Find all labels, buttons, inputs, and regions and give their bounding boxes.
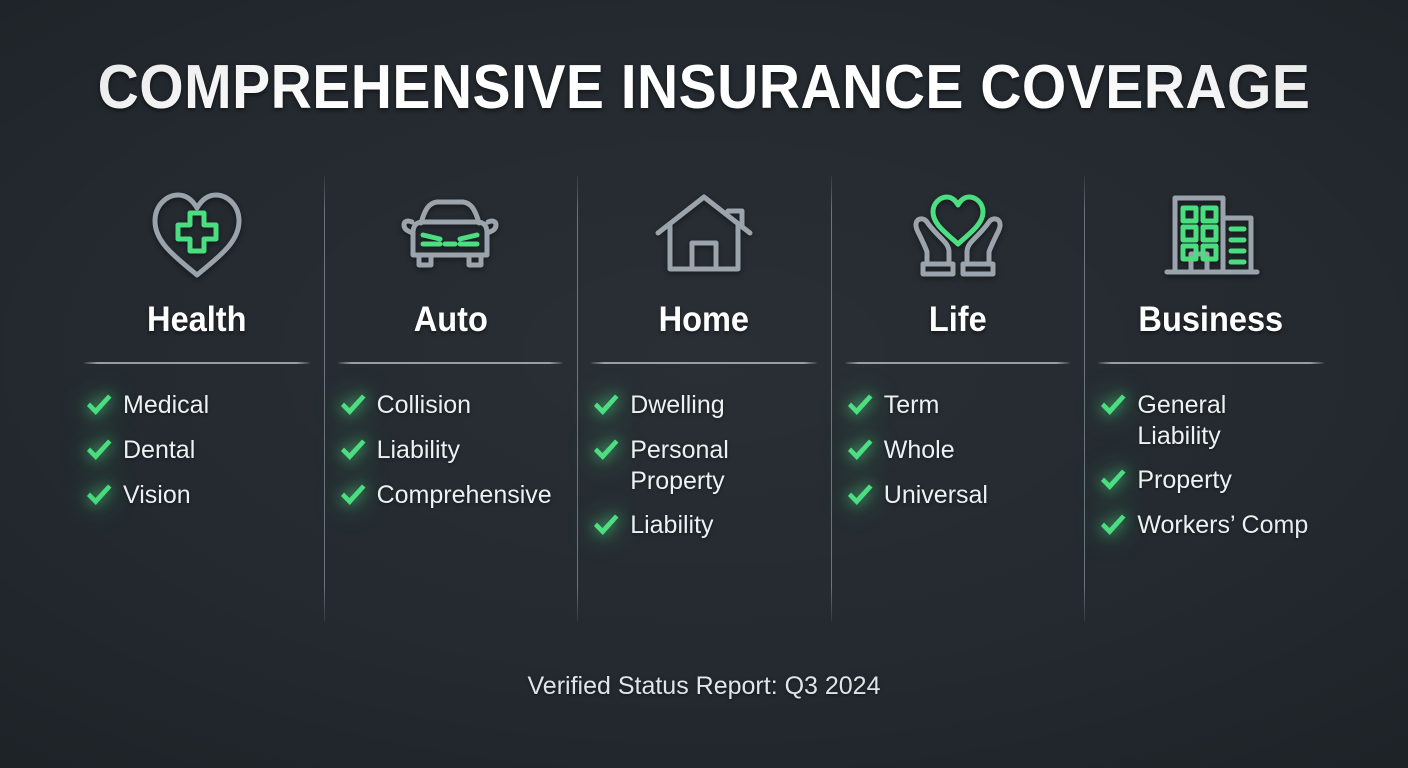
hands-holding-heart-icon bbox=[845, 176, 1071, 294]
list-item-label: Medical bbox=[123, 390, 209, 421]
coverage-list-auto: Collision Liability Comprehensive bbox=[338, 390, 564, 511]
list-item-label: Comprehensive bbox=[377, 480, 552, 511]
footer-status-text: Verified Status Report: Q3 2024 bbox=[0, 672, 1408, 701]
check-icon bbox=[84, 391, 114, 421]
heart-with-medical-cross-icon bbox=[84, 176, 310, 294]
column-title: Life bbox=[853, 300, 1063, 340]
list-item[interactable]: Vision bbox=[84, 480, 310, 511]
list-item[interactable]: Universal bbox=[845, 480, 1071, 511]
list-item-label: Workers’ Comp bbox=[1137, 510, 1308, 541]
check-icon bbox=[338, 391, 368, 421]
list-item[interactable]: Medical bbox=[84, 390, 310, 421]
list-item[interactable]: Dental bbox=[84, 435, 310, 466]
list-item[interactable]: Comprehensive bbox=[338, 480, 564, 511]
list-item[interactable]: General Liability bbox=[1098, 390, 1324, 451]
list-item-label: Collision bbox=[377, 390, 471, 421]
office-building-icon bbox=[1098, 176, 1324, 294]
column-divider-rule bbox=[338, 362, 564, 364]
column-title: Home bbox=[599, 300, 809, 340]
check-icon bbox=[591, 436, 621, 466]
column-divider-rule bbox=[845, 362, 1071, 364]
list-item-label: Liability bbox=[630, 510, 713, 541]
insurance-coverage-infographic: COMPREHENSIVE INSURANCE COVERAGE Health … bbox=[0, 0, 1408, 768]
coverage-list-health: Medical Dental Vision bbox=[84, 390, 310, 511]
list-item[interactable]: Collision bbox=[338, 390, 564, 421]
coverage-column-home[interactable]: Home Dwelling Personal Property bbox=[577, 176, 831, 622]
check-icon bbox=[1098, 391, 1128, 421]
car-front-icon bbox=[338, 176, 564, 294]
check-icon bbox=[591, 511, 621, 541]
column-title: Business bbox=[1106, 300, 1316, 340]
check-icon bbox=[591, 391, 621, 421]
page-title: COMPREHENSIVE INSURANCE COVERAGE bbox=[56, 52, 1351, 123]
list-item-label: General Liability bbox=[1137, 390, 1312, 451]
column-divider-rule bbox=[1098, 362, 1324, 364]
coverage-column-health[interactable]: Health Medical Dental bbox=[70, 176, 324, 622]
list-item[interactable]: Liability bbox=[338, 435, 564, 466]
list-item-label: Property bbox=[1137, 465, 1231, 496]
list-item-label: Whole bbox=[884, 435, 955, 466]
list-item[interactable]: Whole bbox=[845, 435, 1071, 466]
check-icon bbox=[845, 436, 875, 466]
coverage-list-life: Term Whole Universal bbox=[845, 390, 1071, 511]
coverage-column-life[interactable]: Life Term Whole bbox=[831, 176, 1085, 622]
list-item-label: Universal bbox=[884, 480, 988, 511]
check-icon bbox=[338, 436, 368, 466]
list-item-label: Vision bbox=[123, 480, 191, 511]
column-title: Auto bbox=[345, 300, 555, 340]
list-item[interactable]: Term bbox=[845, 390, 1071, 421]
check-icon bbox=[84, 481, 114, 511]
list-item[interactable]: Property bbox=[1098, 465, 1324, 496]
check-icon bbox=[338, 481, 368, 511]
list-item-label: Personal Property bbox=[630, 435, 805, 496]
list-item-label: Dwelling bbox=[630, 390, 724, 421]
coverage-column-business[interactable]: Business General Liability Property bbox=[1084, 176, 1338, 622]
list-item-label: Term bbox=[884, 390, 940, 421]
list-item[interactable]: Workers’ Comp bbox=[1098, 510, 1324, 541]
list-item[interactable]: Dwelling bbox=[591, 390, 817, 421]
coverage-columns: Health Medical Dental bbox=[70, 176, 1338, 622]
check-icon bbox=[845, 391, 875, 421]
house-icon bbox=[591, 176, 817, 294]
list-item[interactable]: Personal Property bbox=[591, 435, 817, 496]
column-title: Health bbox=[92, 300, 302, 340]
coverage-list-home: Dwelling Personal Property Liability bbox=[591, 390, 817, 541]
list-item[interactable]: Liability bbox=[591, 510, 817, 541]
list-item-label: Dental bbox=[123, 435, 195, 466]
coverage-column-auto[interactable]: Auto Collision Liability bbox=[324, 176, 578, 622]
check-icon bbox=[845, 481, 875, 511]
check-icon bbox=[1098, 466, 1128, 496]
check-icon bbox=[1098, 511, 1128, 541]
column-divider-rule bbox=[84, 362, 310, 364]
check-icon bbox=[84, 436, 114, 466]
column-divider-rule bbox=[591, 362, 817, 364]
list-item-label: Liability bbox=[377, 435, 460, 466]
coverage-list-business: General Liability Property Workers’ Comp bbox=[1098, 390, 1324, 541]
